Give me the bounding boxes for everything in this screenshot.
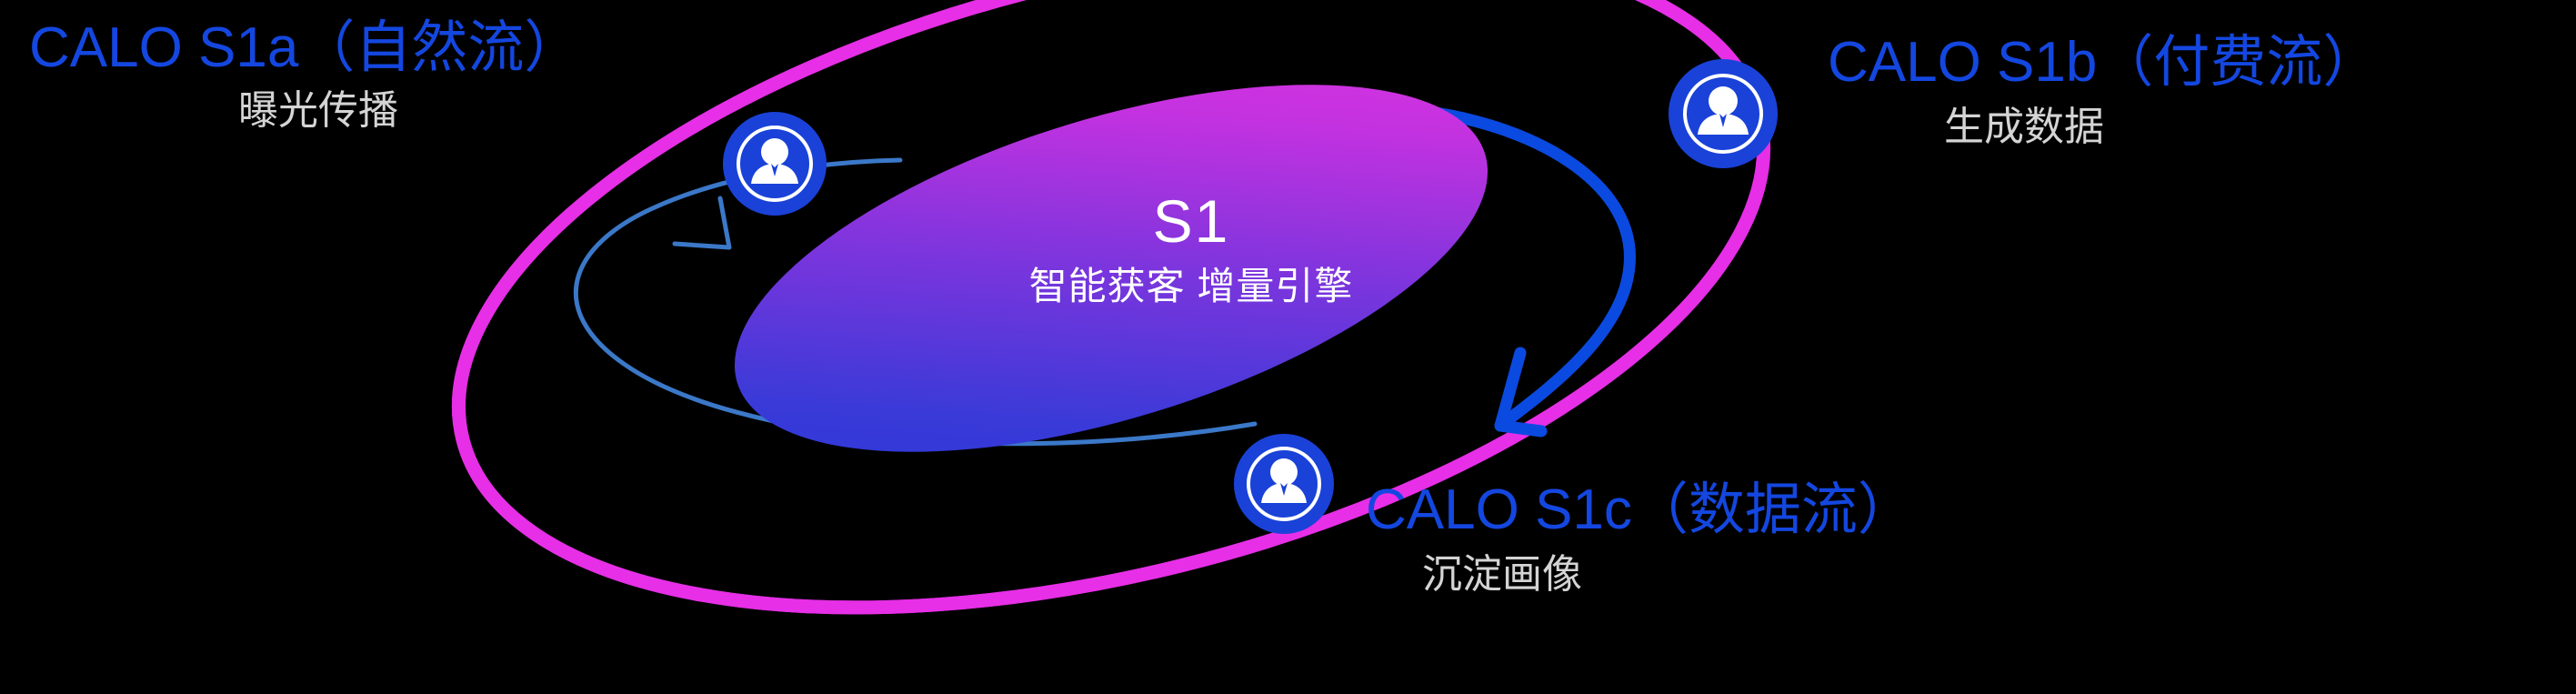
stream-subtitle-s1b: 生成数据 <box>1944 107 2104 147</box>
stream-subtitle-s1a: 曝光传播 <box>238 91 398 131</box>
stream-title-s1b: CALO S1b（付费流） <box>1828 35 2379 91</box>
stream-title-s1a: CALO S1a（自然流） <box>29 20 580 76</box>
stream-label-s1a: CALO S1a（自然流） 曝光传播 <box>29 20 580 76</box>
core-ellipse <box>694 10 1529 526</box>
stream-subtitle-s1c: 沉淀画像 <box>1422 555 1582 595</box>
diagram-canvas: S1 智能获客 增量引擎 CALO S1a（自然流） 曝光传播 CALO S1b… <box>0 0 2576 694</box>
stream-label-s1b: CALO S1b（付费流） 生成数据 <box>1828 35 2379 91</box>
stream-title-s1c: CALO S1c（数据流） <box>1366 482 1914 538</box>
arrow-left-ccw-head <box>675 198 729 247</box>
node-s1b[interactable] <box>1669 59 1778 168</box>
stream-label-s1c: CALO S1c（数据流） 沉淀画像 <box>1366 482 1914 538</box>
node-s1a[interactable] <box>723 112 827 216</box>
node-s1c[interactable] <box>1234 434 1334 534</box>
